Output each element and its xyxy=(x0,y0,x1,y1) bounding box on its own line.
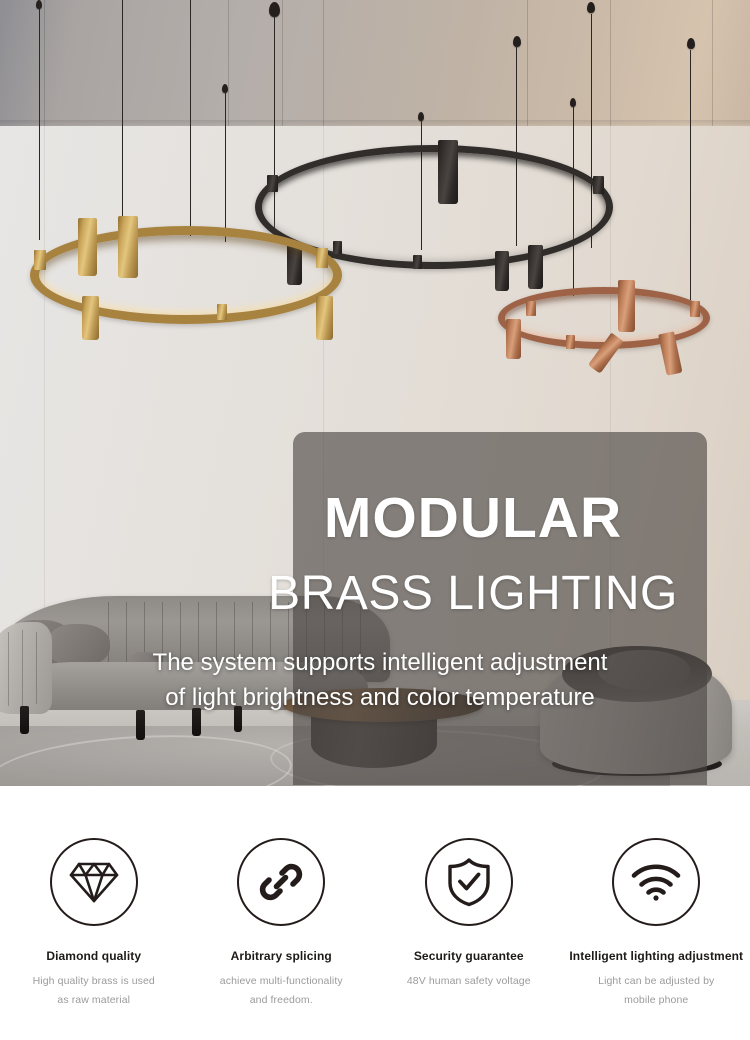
ceiling-seam xyxy=(323,0,324,126)
wifi-icon xyxy=(612,838,700,926)
hero-subheadline: BRASS LIGHTING xyxy=(0,547,750,618)
feature-item-intelligent-lighting: Intelligent lighting adjustment Light ca… xyxy=(563,786,750,1040)
hero-headline: MODULAR xyxy=(0,432,750,547)
ceiling-seam xyxy=(610,0,611,126)
ceiling-canopy xyxy=(269,2,280,17)
chain-link-icon xyxy=(237,838,325,926)
suspension-cable xyxy=(122,0,123,222)
ceiling-canopy xyxy=(587,2,595,13)
feature-desc-line-1: High quality brass is used xyxy=(33,972,155,991)
feature-title: Security guarantee xyxy=(414,947,524,965)
feature-item-arbitrary-splicing: Arbitrary splicing achieve multi-functio… xyxy=(188,786,376,1040)
suspension-cable xyxy=(190,0,191,236)
shield-check-icon xyxy=(425,838,513,926)
mount-nub xyxy=(34,250,46,270)
mount-nub xyxy=(593,176,604,194)
ceiling-seam xyxy=(527,0,528,126)
spot-fixture xyxy=(78,218,97,276)
mount-nub xyxy=(526,301,536,316)
spot-fixture xyxy=(82,296,99,340)
feature-strip: Diamond quality High quality brass is us… xyxy=(0,786,750,1040)
feature-description: High quality brass is used as raw materi… xyxy=(33,972,155,1011)
feature-desc-line-1: 48V human safety voltage xyxy=(407,972,531,991)
feature-title: Arbitrary splicing xyxy=(231,947,332,965)
feature-item-diamond-quality: Diamond quality High quality brass is us… xyxy=(0,786,188,1040)
mount-nub xyxy=(413,255,422,269)
ceiling-canopy xyxy=(687,38,695,49)
spot-fixture xyxy=(618,280,635,332)
mount-nub xyxy=(316,248,328,268)
diamond-icon xyxy=(50,838,138,926)
ceiling-seam xyxy=(44,0,45,126)
feature-desc-line-2: mobile phone xyxy=(598,991,714,1010)
feature-description: achieve multi-functionality and freedom. xyxy=(220,972,343,1011)
ring-band xyxy=(30,226,342,324)
ceiling-surface xyxy=(0,0,750,126)
hero-image: MODULAR BRASS LIGHTING The system suppor… xyxy=(0,0,750,786)
ceiling-seam xyxy=(282,0,283,126)
spot-fixture xyxy=(528,245,543,289)
spot-fixture xyxy=(495,251,509,291)
mount-nub xyxy=(690,301,700,317)
feature-description: Light can be adjusted by mobile phone xyxy=(598,972,714,1011)
mount-nub xyxy=(566,335,575,349)
suspension-cable xyxy=(225,92,226,242)
suspension-cable xyxy=(39,0,40,240)
ceiling-seam xyxy=(228,0,229,126)
hero-description-line-2: of light brightness and color temperatur… xyxy=(10,681,750,716)
feature-title: Diamond quality xyxy=(46,947,141,965)
feature-desc-line-2: as raw material xyxy=(33,991,155,1010)
spot-fixture xyxy=(438,140,458,204)
feature-title: Intelligent lighting adjustment xyxy=(569,947,743,965)
ceiling-seam xyxy=(712,0,713,126)
feature-item-security-guarantee: Security guarantee 48V human safety volt… xyxy=(375,786,563,1040)
spot-fixture xyxy=(316,296,333,340)
product-marketing-page: MODULAR BRASS LIGHTING The system suppor… xyxy=(0,0,750,1040)
ceiling-canopy xyxy=(513,36,521,47)
spot-fixture xyxy=(118,216,138,278)
mount-nub xyxy=(267,175,278,192)
spot-fixture xyxy=(506,319,521,359)
ring-band xyxy=(498,287,710,349)
hero-copy: MODULAR BRASS LIGHTING The system suppor… xyxy=(0,432,750,732)
mount-nub xyxy=(217,304,227,320)
copper-ring-chandelier xyxy=(498,287,710,349)
feature-desc-line-2: and freedom. xyxy=(220,991,343,1010)
feature-desc-line-1: achieve multi-functionality xyxy=(220,972,343,991)
feature-description: 48V human safety voltage xyxy=(407,972,531,991)
hero-description-line-1: The system supports intelligent adjustme… xyxy=(10,646,750,681)
feature-desc-line-1: Light can be adjusted by xyxy=(598,972,714,991)
suspension-cable xyxy=(690,50,691,300)
brass-ring-chandelier xyxy=(30,226,342,324)
